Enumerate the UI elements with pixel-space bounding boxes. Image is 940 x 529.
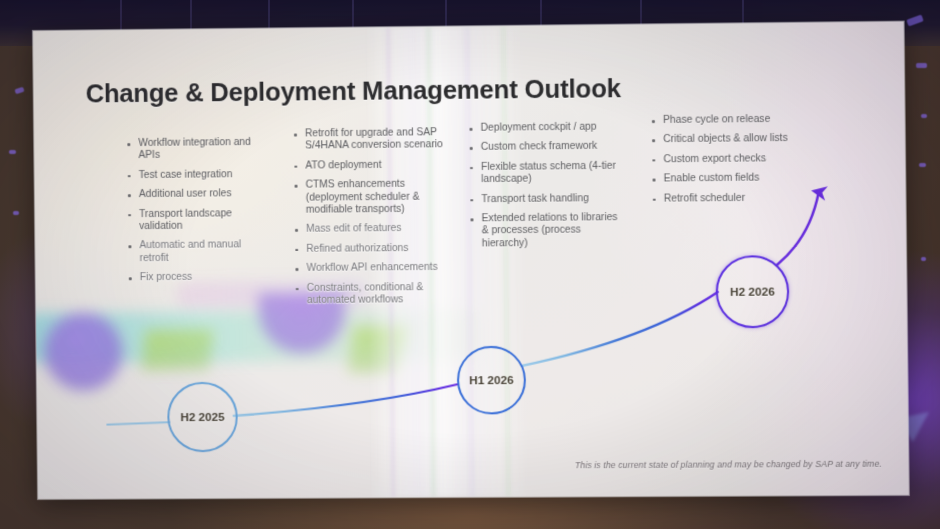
timeline-curve — [33, 22, 909, 499]
milestone-label: H1 2026 — [469, 373, 514, 386]
timeline-segment-1 — [233, 384, 457, 415]
milestone-h2-2026[interactable]: H2 2026 — [715, 255, 789, 328]
light-speck — [916, 63, 927, 68]
timeline-arrow — [776, 192, 820, 265]
timeline-line-start — [107, 422, 169, 424]
light-speck — [9, 150, 16, 154]
light-speck — [13, 211, 19, 215]
timeline-segment-2 — [521, 292, 719, 366]
slide-content: Change & Deployment Management Outlook W… — [33, 22, 909, 499]
light-speck — [919, 163, 926, 167]
photo-scene: Change & Deployment Management Outlook W… — [0, 0, 940, 529]
milestone-label: H2 2026 — [730, 285, 775, 298]
disclaimer-note: This is the current state of planning an… — [546, 459, 882, 471]
milestone-h1-2026[interactable]: H1 2026 — [457, 346, 527, 415]
milestone-h2-2025[interactable]: H2 2025 — [167, 382, 238, 453]
light-speck — [921, 114, 927, 118]
light-speck — [921, 257, 926, 261]
milestone-label: H2 2025 — [180, 410, 224, 423]
projected-slide: Change & Deployment Management Outlook W… — [33, 22, 909, 499]
